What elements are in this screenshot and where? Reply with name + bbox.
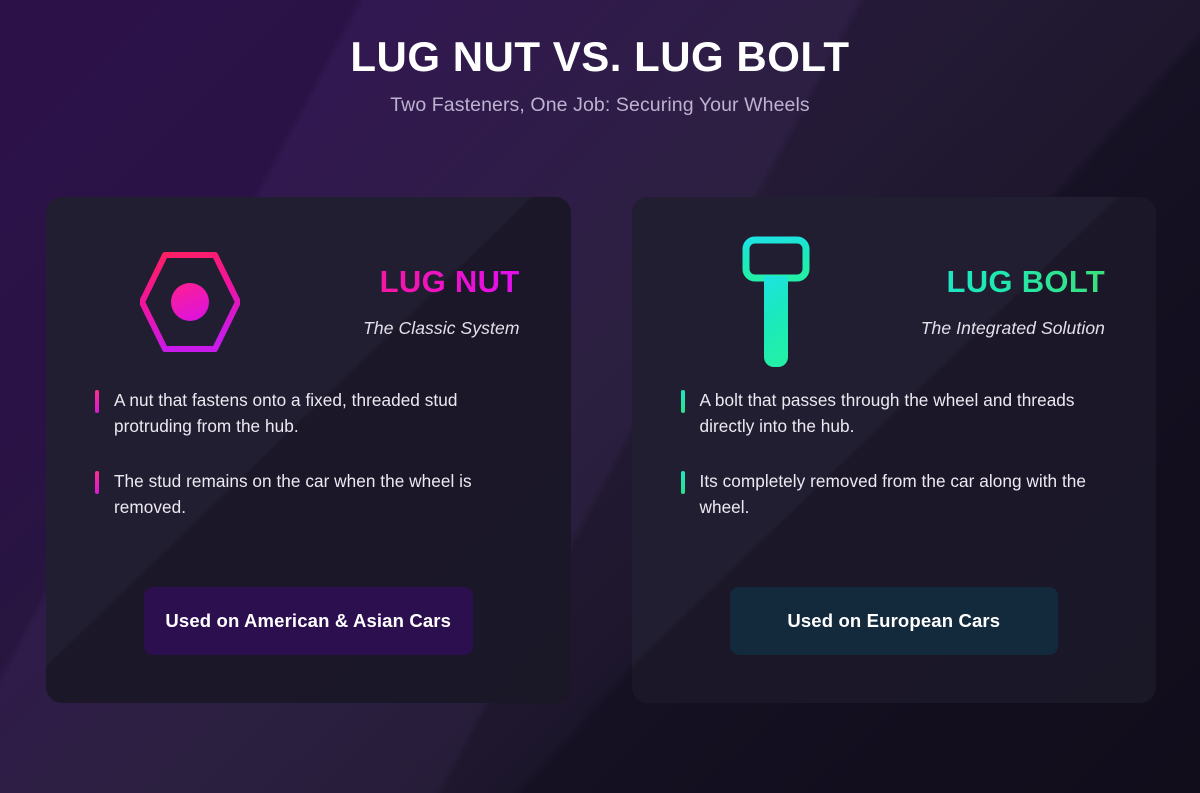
bolt-icon	[741, 236, 811, 368]
card-header-lug-nut: LUG NUT The Classic System	[95, 197, 522, 373]
bullet-item: A bolt that passes through the wheel and…	[681, 387, 1108, 439]
bullet-marker-icon	[95, 471, 99, 494]
bullet-item: Its completely removed from the car alon…	[681, 468, 1108, 520]
card-brand-lug-bolt: LUG BOLT	[871, 265, 1106, 299]
bullet-text: Its completely removed from the car alon…	[700, 468, 1108, 520]
card-brand-lug-nut: LUG NUT	[285, 265, 520, 299]
comparison-cards: LUG NUT The Classic System A nut that fa…	[46, 197, 1156, 703]
card-lug-bolt: LUG BOLT The Integrated Solution A bolt …	[632, 197, 1157, 703]
badge-lug-nut-usage: Used on American & Asian Cars	[144, 587, 473, 655]
bullet-item: The stud remains on the car when the whe…	[95, 468, 522, 520]
header: LUG NUT VS. LUG BOLT Two Fasteners, One …	[0, 0, 1200, 117]
icon-container-lug-bolt	[681, 236, 871, 368]
infographic-page: LUG NUT VS. LUG BOLT Two Fasteners, One …	[0, 0, 1200, 793]
bullet-text: A nut that fastens onto a fixed, threade…	[114, 387, 522, 439]
bullet-marker-icon	[95, 390, 99, 413]
hexagon-nut-icon	[140, 249, 240, 355]
card-tagline-lug-nut: The Classic System	[285, 318, 520, 339]
card-tagline-lug-bolt: The Integrated Solution	[871, 318, 1106, 339]
bullet-text: The stud remains on the car when the whe…	[114, 468, 522, 520]
bullet-list-lug-nut: A nut that fastens onto a fixed, threade…	[95, 387, 522, 521]
bullet-marker-icon	[681, 390, 685, 413]
page-title: LUG NUT VS. LUG BOLT	[0, 33, 1200, 80]
bullet-list-lug-bolt: A bolt that passes through the wheel and…	[681, 387, 1108, 521]
bullet-item: A nut that fastens onto a fixed, threade…	[95, 387, 522, 439]
badge-lug-bolt-usage: Used on European Cars	[730, 587, 1059, 655]
card-header-lug-bolt: LUG BOLT The Integrated Solution	[681, 197, 1108, 373]
page-subtitle: Two Fasteners, One Job: Securing Your Wh…	[0, 94, 1200, 117]
card-lug-nut: LUG NUT The Classic System A nut that fa…	[46, 197, 571, 703]
bullet-marker-icon	[681, 471, 685, 494]
card-title-block-lug-bolt: LUG BOLT The Integrated Solution	[871, 265, 1108, 338]
icon-container-lug-nut	[95, 249, 285, 355]
bullet-text: A bolt that passes through the wheel and…	[700, 387, 1108, 439]
card-title-block-lug-nut: LUG NUT The Classic System	[285, 265, 522, 338]
